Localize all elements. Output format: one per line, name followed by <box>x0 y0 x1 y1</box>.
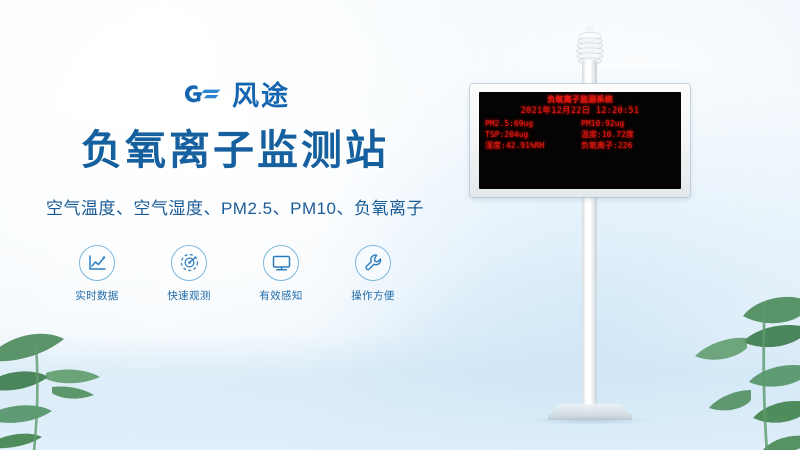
reading-humidity: 湿度:42.91%RH <box>485 142 579 150</box>
display-datetime: 2021年12月22日 12:20:51 <box>485 107 675 116</box>
feature-list: 实时数据 快速观测 <box>0 245 470 303</box>
feature-label: 实时数据 <box>66 288 128 303</box>
reading-tsp: TSP:204ug <box>485 131 579 139</box>
brand-logo: 风途 <box>0 78 470 114</box>
reading-temperature: 温度:10.72度 <box>581 131 675 139</box>
poster-canvas: 风途 负氧离子监测站 空气温度、空气湿度、PM2.5、PM10、负氧离子 实时数… <box>0 0 800 450</box>
page-title: 负氧离子监测站 <box>0 128 470 174</box>
reading-pm10: PM10:92ug <box>581 120 675 128</box>
wind-g-logo-icon <box>180 81 224 112</box>
brand-name: 风途 <box>232 83 290 110</box>
hero-copy-block: 风途 负氧离子监测站 空气温度、空气湿度、PM2.5、PM10、负氧离子 实时数… <box>0 78 470 303</box>
led-display-panel[interactable]: 负氧离子监测系统 2021年12月22日 12:20:51 PM2.5:69ug… <box>470 84 690 197</box>
plant-leaves-icon <box>0 311 110 450</box>
wrench-icon <box>355 245 391 281</box>
display-title: 负氧离子监测系统 <box>485 96 675 104</box>
monitoring-station: 负氧离子监测系统 2021年12月22日 12:20:51 PM2.5:69ug… <box>440 0 740 450</box>
radar-scan-icon <box>171 245 207 281</box>
led-screen: 负氧离子监测系统 2021年12月22日 12:20:51 PM2.5:69ug… <box>479 92 681 189</box>
feature-label: 快速观测 <box>158 288 220 303</box>
page-subtitle: 空气温度、空气湿度、PM2.5、PM10、负氧离子 <box>0 194 470 219</box>
feature-label: 有效感知 <box>250 288 312 303</box>
display-readings: PM2.5:69ug PM10:92ug TSP:204ug 温度:10.72度… <box>485 120 675 150</box>
feature-item-realtime-data[interactable]: 实时数据 <box>66 245 128 303</box>
reading-negative-oxygen-ions: 负氧离子:226 <box>581 142 675 150</box>
feature-item-effective-sensing[interactable]: 有效感知 <box>250 245 312 303</box>
line-chart-icon <box>79 245 115 281</box>
station-base-shadow <box>526 416 654 425</box>
monitor-icon <box>263 245 299 281</box>
feature-label: 操作方便 <box>342 288 404 303</box>
feature-item-easy-operation[interactable]: 操作方便 <box>342 245 404 303</box>
feature-item-fast-observation[interactable]: 快速观测 <box>158 245 220 303</box>
reading-pm25: PM2.5:69ug <box>485 120 579 128</box>
